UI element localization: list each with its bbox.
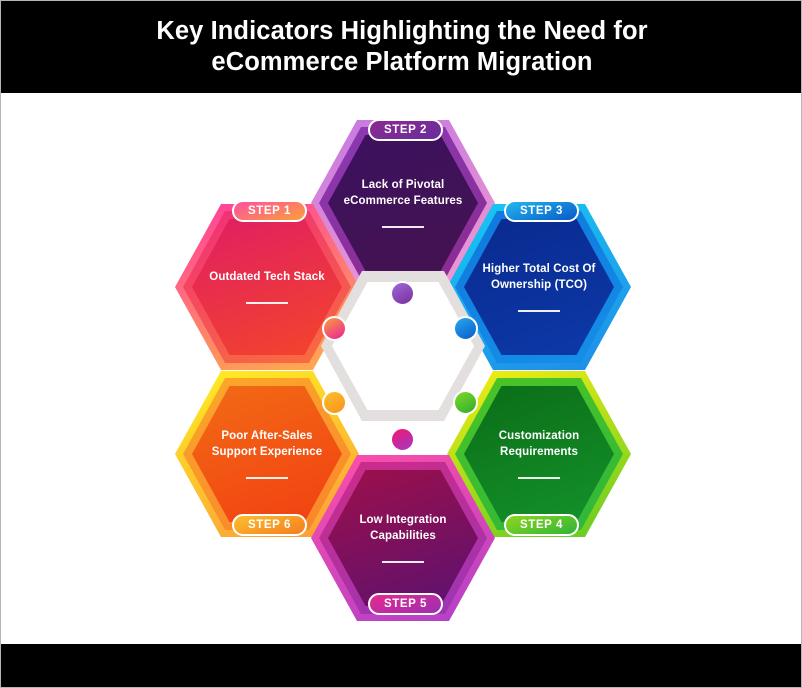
step-badge-1[interactable]: STEP 1: [232, 200, 307, 222]
step-badge-4[interactable]: STEP 4: [504, 514, 579, 536]
page-title: Key Indicators Highlighting the Need for…: [82, 16, 722, 78]
node-dot-step-4: [453, 390, 478, 415]
step-badge-3[interactable]: STEP 3: [504, 200, 579, 222]
step-badge-2-label: STEP 2: [384, 124, 427, 136]
footer-bar: [1, 644, 802, 688]
step-badge-2[interactable]: STEP 2: [368, 119, 443, 141]
step-badge-5[interactable]: STEP 5: [368, 593, 443, 615]
step-badge-1-label: STEP 1: [248, 205, 291, 217]
node-dot-step-1: [322, 316, 347, 341]
node-dot-step-6: [322, 390, 347, 415]
step-badge-5-label: STEP 5: [384, 598, 427, 610]
step-badge-4-label: STEP 4: [520, 519, 563, 531]
step-badge-3-label: STEP 3: [520, 205, 563, 217]
node-dot-step-5: [390, 427, 415, 452]
node-dot-step-2: [390, 281, 415, 306]
header-bar: Key Indicators Highlighting the Need for…: [1, 1, 802, 93]
step-badge-6-label: STEP 6: [248, 519, 291, 531]
hexagon-cycle-diagram: Lack of Pivotal eCommerce Features Outda…: [1, 93, 802, 644]
infographic-canvas: Key Indicators Highlighting the Need for…: [0, 0, 802, 688]
node-dot-step-3: [453, 316, 478, 341]
step-badge-6[interactable]: STEP 6: [232, 514, 307, 536]
